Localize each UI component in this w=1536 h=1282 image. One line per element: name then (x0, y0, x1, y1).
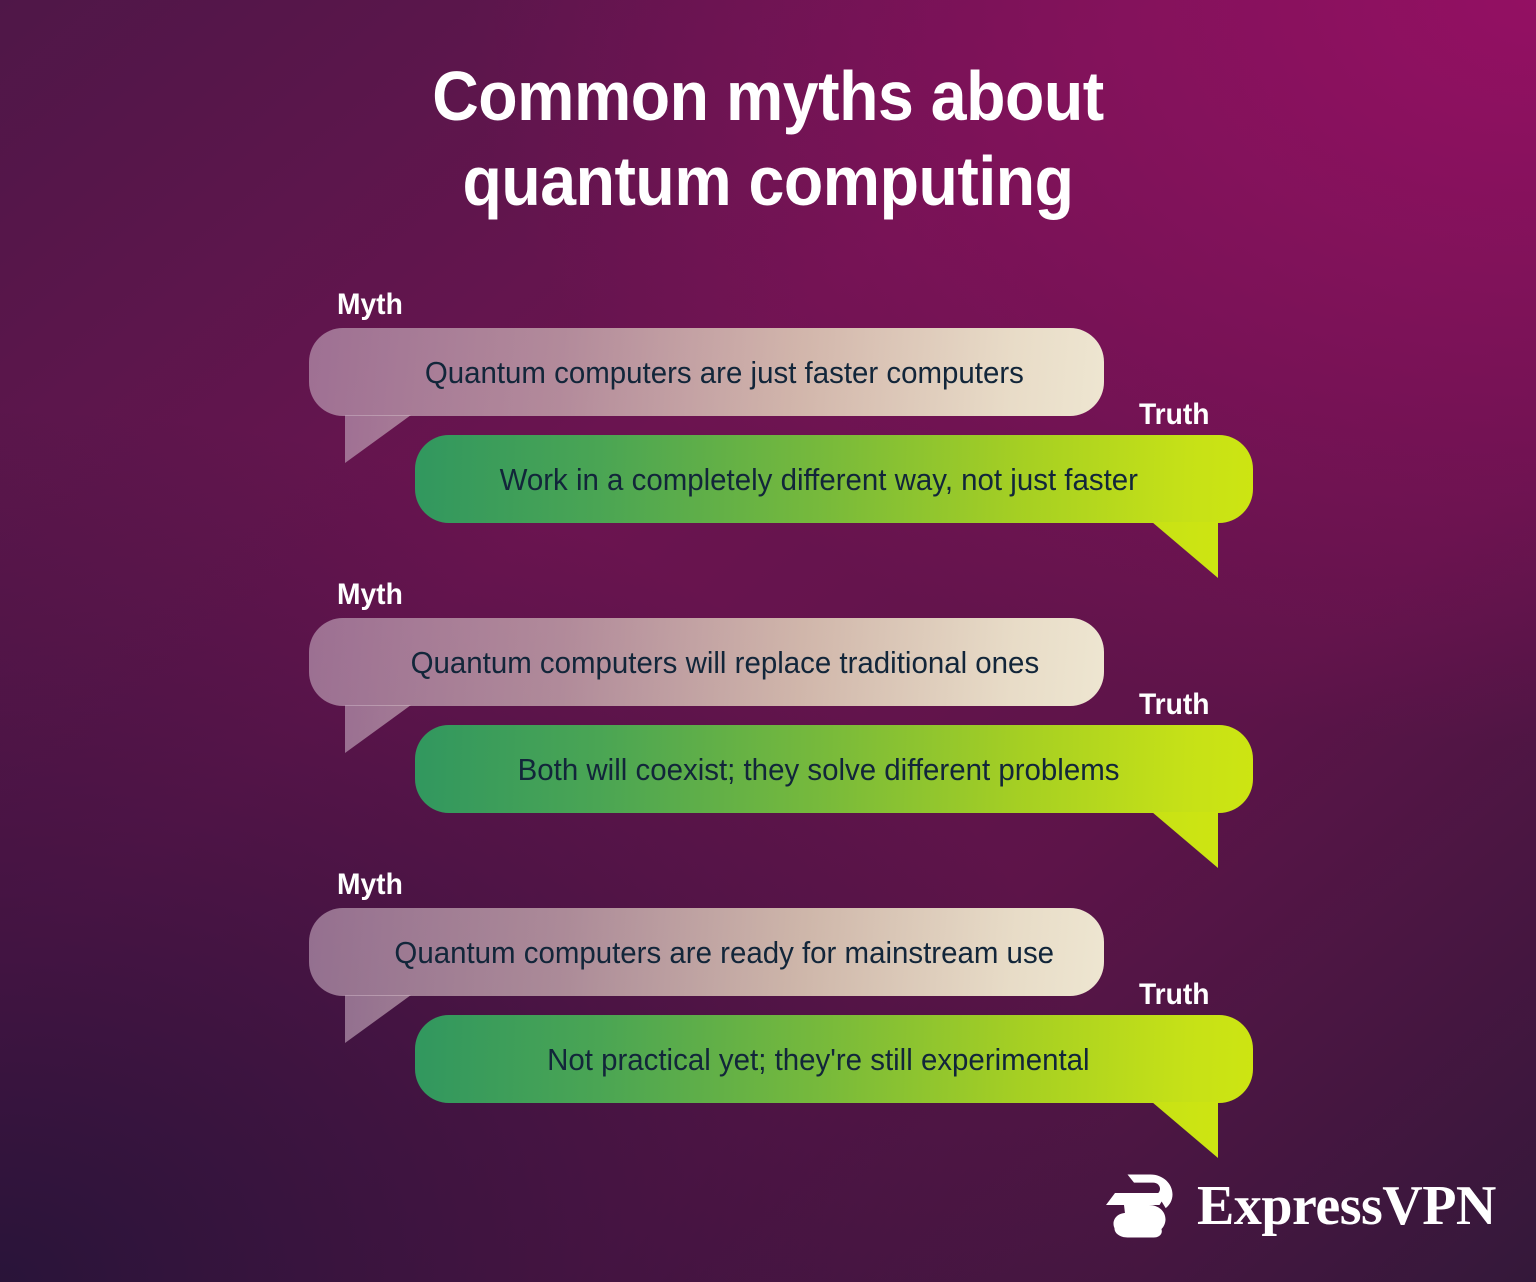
myth-bubble-tail-1 (345, 415, 411, 463)
truth-label-1: Truth (1139, 398, 1210, 432)
truth-label-2: Truth (1139, 688, 1210, 722)
myth-bubble-2: Quantum computers will replace tradition… (309, 618, 1104, 706)
truth-bubble-3: Not practical yet; they're still experim… (415, 1015, 1253, 1103)
truth-bubble-1: Work in a completely different way, not … (415, 435, 1253, 523)
myth-bubble-1: Quantum computers are just faster comput… (309, 328, 1104, 416)
title-line-1: Common myths about (61, 54, 1474, 139)
truth-bubble-2: Both will coexist; they solve different … (415, 725, 1253, 813)
title-line-2: quantum computing (61, 139, 1474, 224)
expressvpn-wordmark: ExpressVPN (1197, 1178, 1496, 1234)
myth-bubble-3: Quantum computers are ready for mainstre… (309, 908, 1104, 996)
truth-text-3: Not practical yet; they're still experim… (548, 1044, 1121, 1075)
page-title: Common myths about quantum computing (61, 54, 1474, 225)
myth-label-3: Myth (337, 868, 403, 902)
expressvpn-e-logo-icon (1103, 1172, 1175, 1240)
myth-text-1: Quantum computers are just faster comput… (389, 357, 1024, 388)
truth-bubble-tail-2 (1152, 812, 1218, 868)
myth-bubble-tail-3 (345, 995, 411, 1043)
myth-label-1: Myth (337, 288, 403, 322)
myth-label-2: Myth (337, 578, 403, 612)
myth-text-2: Quantum computers will replace tradition… (374, 647, 1039, 678)
infographic-canvas: Common myths about quantum computing Myt… (0, 0, 1536, 1282)
truth-label-3: Truth (1139, 978, 1210, 1012)
myth-bubble-tail-2 (345, 705, 411, 753)
myth-text-3: Quantum computers are ready for mainstre… (359, 937, 1055, 968)
truth-text-2: Both will coexist; they solve different … (518, 754, 1150, 785)
truth-bubble-tail-3 (1152, 1102, 1218, 1158)
truth-bubble-tail-1 (1152, 522, 1218, 578)
expressvpn-logo: ExpressVPN (1103, 1172, 1496, 1240)
truth-text-1: Work in a completely different way, not … (500, 464, 1169, 495)
